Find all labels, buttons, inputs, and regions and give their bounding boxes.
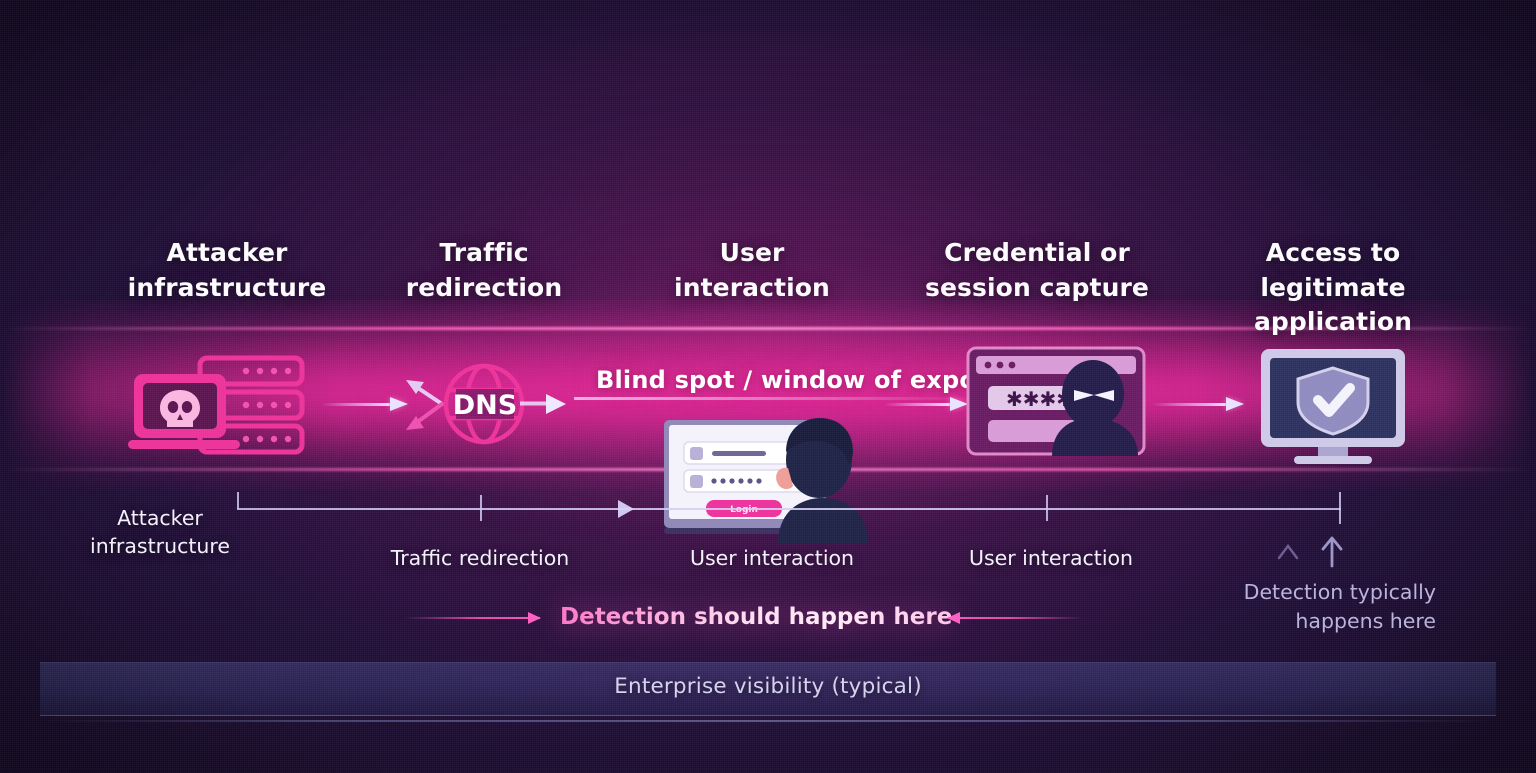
timeline-tick-1 (480, 495, 482, 521)
timeline-label-user-interaction-2: User interaction (948, 545, 1154, 573)
arrow-shaft (404, 617, 540, 619)
detection-arrow-right (948, 612, 1084, 624)
detection-typical-arrow-faint (1275, 538, 1301, 568)
detection-typical-label: Detection typically happens here (1130, 578, 1436, 636)
icon-traffic-redirection: DNS (396, 356, 574, 452)
header-line-2: interaction (648, 271, 856, 306)
icon-credential-capture: ✱✱✱✱ (966, 346, 1146, 456)
detection-typical-line-1: Detection typically (1130, 578, 1436, 607)
stage-header-attacker-infrastructure: Attacker infrastructure (112, 236, 342, 305)
header-line-2: infrastructure (112, 271, 342, 306)
dns-label: DNS (453, 390, 517, 421)
arrow-shaft (1152, 403, 1226, 406)
detection-should-label: Detection should happen here (560, 604, 952, 630)
stage-header-traffic-redirection: Traffic redirection (378, 236, 590, 305)
arrow-up-icon (1318, 534, 1346, 568)
detection-arrow-left (404, 612, 540, 624)
header-line-1: Credential or (906, 236, 1168, 271)
detection-typical-line-2: happens here (1130, 607, 1436, 636)
browser-password-attacker-icon: ✱✱✱✱ (966, 346, 1146, 456)
icon-user-interaction: Login (658, 412, 884, 544)
login-button-label: Login (730, 505, 758, 515)
monitor-shield-check-icon (1258, 346, 1408, 466)
timeline-label-user-interaction-1: User interaction (668, 545, 876, 573)
enterprise-visibility-label: Enterprise visibility (typical) (0, 674, 1536, 699)
timeline-tick-2 (1046, 495, 1048, 521)
arrow-shaft (884, 403, 950, 406)
flow-arrow-4 (1152, 397, 1244, 411)
timeline-arrowhead (618, 500, 634, 518)
header-line-2: redirection (378, 271, 590, 306)
header-line-1: Traffic (378, 236, 590, 271)
header-line-1: Access to (1178, 236, 1488, 271)
arrow-head (528, 612, 541, 624)
arrow-head (947, 612, 960, 624)
stage-header-user-interaction: User interaction (648, 236, 856, 305)
arrow-head (1226, 397, 1244, 411)
stage-header-legitimate-application: Access to legitimate application (1178, 236, 1488, 340)
header-line-2: session capture (906, 271, 1168, 306)
user-login-form-icon: Login (658, 412, 884, 544)
infographic-canvas: Attacker infrastructure Traffic redirect… (0, 0, 1536, 773)
timeline-label-line-2: infrastructure (60, 533, 260, 561)
header-line-1: User (648, 236, 856, 271)
timeline-label-attacker-infrastructure: Attacker infrastructure (60, 505, 260, 560)
timeline-label-line-1: Attacker (60, 505, 260, 533)
timeline-tick-end (1339, 492, 1341, 524)
timeline-label-line-1: User interaction (668, 545, 876, 573)
arrow-shaft (322, 403, 390, 406)
laptop-skull-server-icon (128, 350, 320, 460)
icon-attacker-infrastructure (128, 350, 320, 460)
header-line-1: Attacker (112, 236, 342, 271)
timeline-label-line-1: Traffic redirection (370, 545, 590, 573)
chevron-up-icon (1275, 538, 1301, 564)
arrow-shaft (948, 617, 1084, 619)
timeline-label-traffic-redirection: Traffic redirection (370, 545, 590, 573)
timeline-axis (237, 508, 1341, 510)
timeline-label-line-1: User interaction (948, 545, 1154, 573)
icon-legitimate-application (1258, 346, 1408, 466)
header-line-2: legitimate application (1178, 271, 1488, 340)
dns-globe-icon: DNS (396, 356, 574, 452)
flow-arrow-3 (884, 397, 968, 411)
stage-header-credential-capture: Credential or session capture (906, 236, 1168, 305)
detection-typical-arrow (1318, 534, 1346, 572)
